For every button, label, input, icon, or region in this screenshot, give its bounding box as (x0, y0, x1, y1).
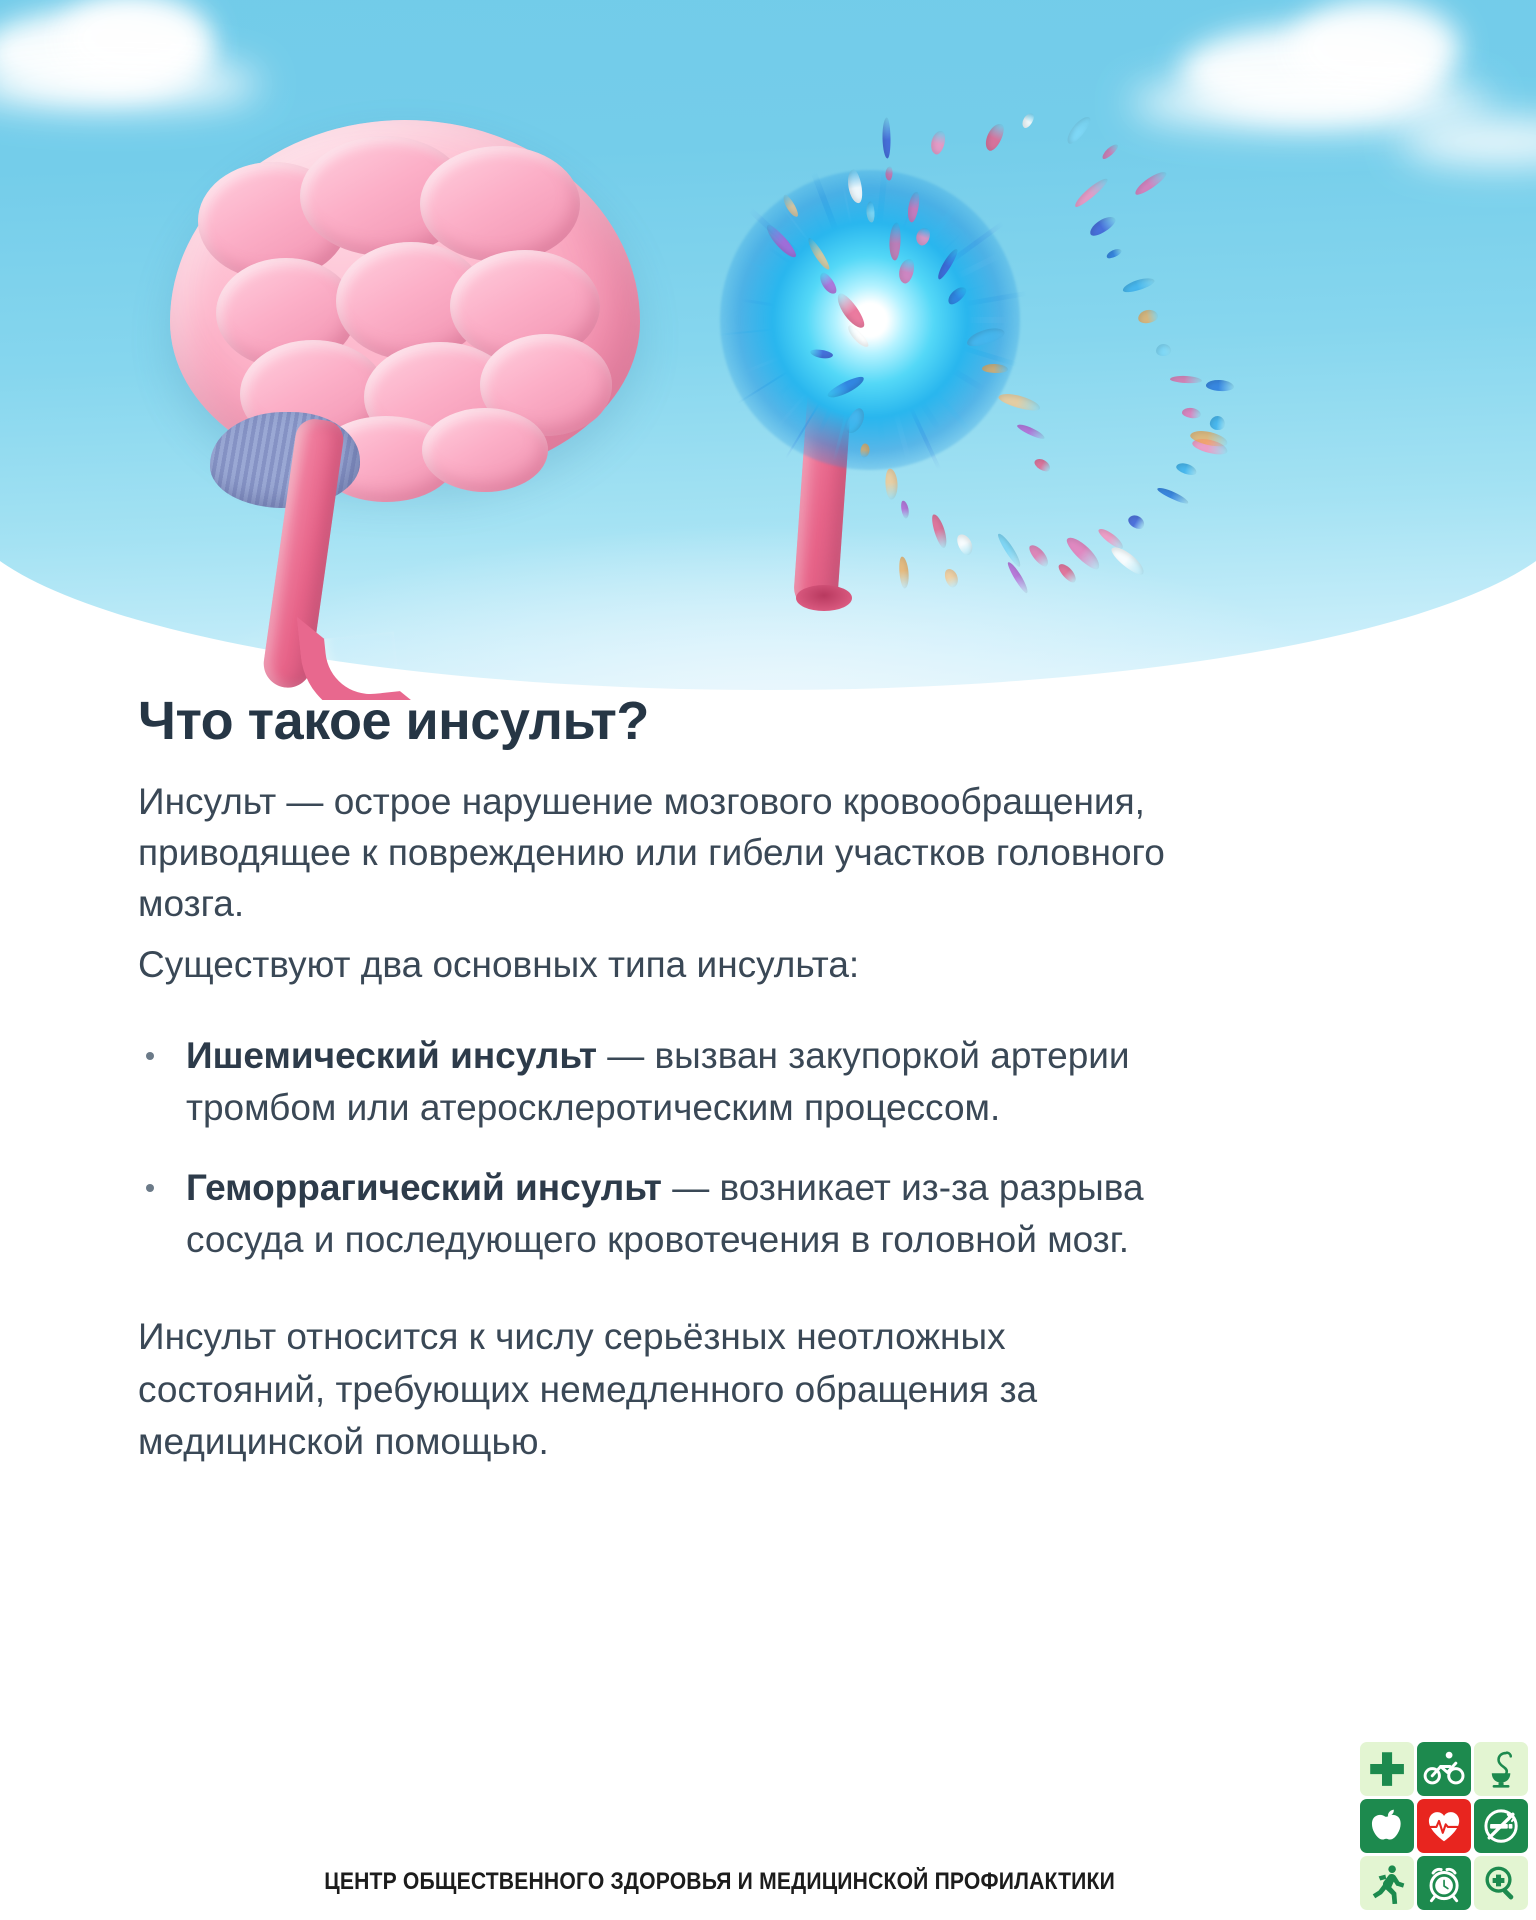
heart-pulse-icon (1417, 1799, 1471, 1853)
intro-paragraph: Инсульт — острое нарушение мозгового кро… (138, 776, 1168, 929)
bowl-of-hygieia-icon (1474, 1742, 1528, 1796)
burst-spark (906, 191, 921, 223)
apple-icon (1360, 1799, 1414, 1853)
burst-spark (1156, 485, 1190, 506)
burst-sparks (650, 40, 1210, 620)
brain-figure (150, 90, 670, 610)
burst-spark (1056, 561, 1079, 585)
burst-spark (982, 121, 1007, 153)
burst-spark (1087, 213, 1118, 239)
page-footer: ЦЕНТР ОБЩЕСТВЕННОГО ЗДОРОВЬЯ И МЕДИЦИНСК… (0, 1740, 1536, 1920)
burst-spark (885, 166, 893, 180)
lead-in-paragraph: Существуют два основных типа инсульта: (138, 939, 1168, 990)
hero-illustration (0, 0, 1536, 700)
burst-spark (846, 169, 865, 205)
burst-spark (935, 247, 960, 281)
burst-spark (805, 236, 832, 272)
burst-spark (1132, 168, 1168, 197)
burst-spark (1105, 247, 1122, 260)
burst-spark (1170, 375, 1202, 384)
burst-spark (929, 513, 949, 549)
burst-spark (1026, 542, 1051, 569)
burst-spark (889, 222, 902, 260)
burst-spark (1063, 113, 1093, 146)
burst-spark (1175, 461, 1198, 477)
burst-spark (1137, 308, 1159, 324)
burst-spark (1156, 344, 1172, 357)
brain-gyrus (422, 408, 548, 492)
burst-spark (898, 556, 910, 589)
burst-spark (982, 364, 1008, 374)
bicycle-icon (1417, 1742, 1471, 1796)
stroke-type-list: Ишемический инсульт — вызван закупоркой … (138, 1030, 1198, 1265)
burst-spark (1096, 526, 1125, 551)
burst-spark (809, 348, 833, 360)
list-item-term: Ишемический инсульт (186, 1035, 597, 1076)
burst-spark (885, 468, 899, 500)
burst-spark (763, 222, 799, 261)
burst-spark (1108, 543, 1147, 578)
burst-spark (1033, 456, 1053, 473)
burst-spark (897, 257, 917, 285)
closing-paragraph: Инсульт относится к числу серьёзных неот… (138, 1311, 1158, 1469)
list-item-term: Геморрагический инсульт (186, 1167, 662, 1208)
burst-spark (965, 325, 1006, 350)
burst-spark (1121, 275, 1155, 295)
list-item: Геморрагический инсульт — возникает из-з… (138, 1162, 1198, 1266)
burst-spark (1016, 422, 1046, 441)
medical-cross-icon (1360, 1742, 1414, 1796)
burst-spark (945, 284, 969, 307)
burst-spark (860, 443, 871, 458)
burst-spark (817, 270, 839, 296)
burst-spark (954, 532, 975, 557)
page-title: Что такое инсульт? (138, 690, 1536, 752)
alarm-clock-icon (1417, 1856, 1471, 1910)
brain-stem-curve (297, 604, 428, 700)
burst-spark (781, 193, 800, 219)
burst-spark (1126, 512, 1147, 531)
magnifier-plus-icon (1474, 1856, 1528, 1910)
burst-spark (843, 406, 868, 436)
burst-spark (929, 129, 947, 155)
burst-spark (866, 201, 875, 222)
burst-spark (914, 226, 932, 247)
burst-spark (943, 567, 960, 589)
burst-spark (1020, 111, 1036, 129)
no-smoking-icon (1474, 1799, 1528, 1853)
brain-gyrus (420, 146, 580, 262)
burst-spark (826, 374, 867, 402)
health-center-logo (1360, 1742, 1528, 1910)
article-body: Что такое инсульт? Инсульт — острое нару… (0, 700, 1536, 1469)
organization-name: ЦЕНТР ОБЩЕСТВЕННОГО ЗДОРОВЬЯ И МЕДИЦИНСК… (92, 1868, 1444, 1896)
infographic-page: Что такое инсульт? Инсульт — острое нару… (0, 0, 1536, 1920)
burst-spark (882, 117, 891, 158)
burst-spark (900, 500, 910, 519)
ruptured-vessel-figure (650, 40, 1210, 620)
burst-spark (1072, 175, 1110, 209)
burst-spark (1100, 142, 1119, 161)
burst-spark (997, 390, 1042, 413)
runner-icon (1360, 1856, 1414, 1910)
burst-spark (1181, 407, 1201, 420)
list-item: Ишемический инсульт — вызван закупоркой … (138, 1030, 1198, 1134)
